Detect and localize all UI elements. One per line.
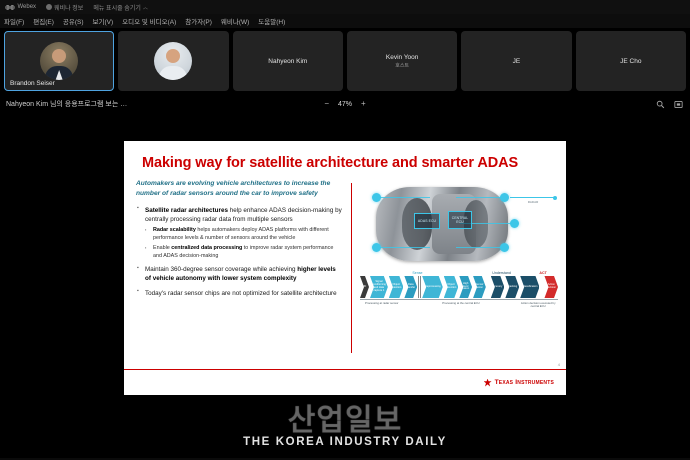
participant-name: JE Cho	[620, 58, 641, 65]
avatar	[154, 42, 192, 80]
legend-caption: RADAR	[510, 200, 556, 204]
zoom-out-button[interactable]: −	[324, 100, 329, 108]
radar-beam	[380, 197, 430, 198]
pipeline-headers: Sense Understand ACT	[360, 271, 558, 275]
watermark: 산업일보 THE KOREA INDUSTRY DAILY	[0, 407, 690, 449]
ti-star-icon	[484, 379, 492, 387]
car-radar-diagram: ADAS ECU CENTRAL ECU RADAR	[360, 181, 558, 269]
pipeline-stage: Object detection	[389, 276, 404, 298]
car-body	[376, 187, 508, 261]
radar-beam	[380, 247, 430, 248]
slide-lead-text: Automakers are evolving vehicle architec…	[136, 179, 352, 199]
share-bar-actions	[656, 100, 683, 109]
avatar-body	[159, 66, 187, 80]
hide-menubar-label: 메뉴 표시줄 숨기기	[93, 3, 141, 12]
slide-footer: Texas Instruments	[124, 369, 566, 395]
shared-content-stage: Making way for satellite architecture an…	[0, 113, 690, 458]
participant-label-group: JE Cho	[620, 58, 641, 65]
menu-edit[interactable]: 편집(E)	[33, 16, 54, 26]
webinar-info-label: 웨비나 정보	[54, 3, 83, 12]
pipeline-stage: Sensor fusion	[473, 276, 486, 298]
pipeline-footer-central: Processing at the central ECU	[404, 302, 519, 309]
participant-label-group: JE	[513, 58, 521, 65]
pipeline-stage-rf: RF	[360, 276, 369, 298]
sub-bullet-pre: Enable	[153, 245, 171, 251]
menu-help[interactable]: 도움말(H)	[258, 16, 285, 26]
pipeline-axis	[360, 299, 558, 300]
participant-tile-brandon-seiser[interactable]: Brandon Seiser	[4, 31, 114, 91]
sub-bullet-item: Enable centralized data processing to im…	[145, 245, 342, 260]
legend-bar	[510, 197, 556, 198]
pipeline-footer-radar: Processing at radar sensor	[360, 302, 404, 309]
pipeline-stage: Data transfer	[404, 276, 417, 298]
slide-bullet-list: Satellite radar architectures help enhan…	[136, 206, 352, 298]
radar-beam	[456, 247, 502, 248]
participant-strip: Brandon Seiser Nahyeon Kim Kevin Yoon 호스…	[0, 28, 690, 95]
pipeline-footer-act: Action decision executed by central ECU	[518, 302, 558, 309]
slide-graphic-column: ADAS ECU CENTRAL ECU RADAR Sense Underst…	[352, 179, 566, 369]
participant-tile-kevin-yoon[interactable]: Kevin Yoon 호스트	[347, 31, 457, 91]
share-status-label: Nahyeon Kim 님의 응용프로그램 보는 …	[6, 99, 127, 109]
bullet-item: Maintain 360-degree sensor coverage whil…	[136, 265, 342, 283]
menu-bar: 파일(F) 편집(E) 공유(S) 보기(V) 오디오 및 비디오(A) 참가자…	[0, 14, 690, 28]
webinar-info-button[interactable]: 웨비나 정보	[46, 3, 83, 12]
bullet-text: Today's radar sensor chips are not optim…	[145, 290, 337, 297]
zoom-controls: − 47% +	[324, 100, 365, 108]
participant-name: Brandon Seiser	[10, 80, 55, 87]
pipeline-stage: Classification	[520, 276, 539, 298]
hide-menubar-button[interactable]: 메뉴 표시줄 숨기기 ︿	[93, 3, 148, 12]
pipeline-footers: Processing at radar sensor Processing at…	[360, 302, 558, 309]
ti-logo-label: Texas Instruments	[495, 379, 554, 386]
sub-bullet-list: Radar scalability helps automakers deplo…	[145, 227, 342, 260]
participant-tile-nahyeon-kim[interactable]: Nahyeon Kim	[233, 31, 343, 91]
participant-tile-2[interactable]	[118, 31, 228, 91]
radar-beam	[456, 197, 502, 198]
pipeline-break	[418, 276, 421, 298]
bullet-item: Today's radar sensor chips are not optim…	[136, 289, 342, 298]
search-icon[interactable]	[656, 100, 665, 109]
participant-role: 호스트	[395, 62, 409, 69]
pipeline-stage: Object detection	[444, 276, 459, 298]
zoom-level-value: 47%	[338, 101, 352, 108]
share-status-bar: Nahyeon Kim 님의 응용프로그램 보는 … − 47% +	[0, 95, 690, 113]
participant-name: Nahyeon Kim	[268, 58, 307, 65]
participant-tile-je[interactable]: JE	[461, 31, 571, 91]
webex-brand: ◍◍ Webex	[5, 4, 36, 11]
column-divider	[351, 183, 352, 353]
menu-participants[interactable]: 참가자(P)	[185, 16, 212, 26]
bullet-item: Satellite radar architectures help enhan…	[136, 206, 342, 261]
pipeline-stage: Scenery	[491, 276, 505, 298]
pipeline-stage-act: Action decision	[544, 276, 558, 298]
bullet-bold-lead: Satellite radar architectures	[145, 207, 228, 214]
participant-label-group: Nahyeon Kim	[268, 58, 307, 65]
pipeline-stage: High level fusion	[459, 276, 472, 298]
menu-view[interactable]: 보기(V)	[93, 16, 114, 26]
central-ecu-box: CENTRAL ECU	[448, 211, 472, 229]
fullscreen-icon[interactable]	[674, 100, 683, 109]
participant-name: Kevin Yoon	[386, 54, 419, 61]
participant-label-group: Kevin Yoon 호스트	[386, 54, 419, 69]
info-icon	[46, 4, 52, 10]
zoom-in-button[interactable]: +	[361, 100, 366, 108]
pipeline-stage: Preprocessing	[422, 276, 443, 298]
sub-bullet-item: Radar scalability helps automakers deplo…	[145, 227, 342, 242]
pipeline-stage: Tracking	[505, 276, 519, 298]
sub-bullet-bold-mid: centralized data processing	[171, 245, 242, 251]
slide-page-number: 4	[558, 362, 560, 367]
slide-title: Making way for satellite architecture an…	[142, 155, 566, 171]
watermark-korean: 산업일보	[288, 407, 402, 436]
texas-instruments-logo: Texas Instruments	[484, 379, 554, 387]
webex-logo-icon: ◍◍	[5, 4, 14, 11]
slide-body: Automakers are evolving vehicle architec…	[124, 179, 566, 369]
bullet-pre: Maintain 360-degree sensor coverage whil…	[145, 266, 297, 273]
avatar-head	[166, 49, 180, 63]
pipeline-header-understand: Understand	[475, 271, 528, 275]
menu-audio-video[interactable]: 오디오 및 비디오(A)	[122, 16, 176, 26]
menu-share[interactable]: 공유(S)	[63, 16, 84, 26]
chevron-up-icon: ︿	[143, 4, 148, 11]
webex-brand-label: Webex	[17, 4, 36, 10]
sub-bullet-bold-lead: Radar scalability	[153, 227, 196, 233]
radar-legend: RADAR	[510, 197, 556, 204]
participant-tile-je-cho[interactable]: JE Cho	[576, 31, 686, 91]
webex-window: ◍◍ Webex 웨비나 정보 메뉴 표시줄 숨기기 ︿ 파일(F) 편집(E)…	[0, 0, 690, 460]
avatar	[40, 42, 78, 80]
menu-file[interactable]: 파일(F)	[4, 16, 24, 26]
participant-name: JE	[513, 58, 521, 65]
shared-slide: Making way for satellite architecture an…	[124, 141, 566, 395]
processing-pipeline-diagram: Sense Understand ACT RF Signal condition…	[360, 271, 558, 309]
slide-text-column: Automakers are evolving vehicle architec…	[124, 179, 352, 369]
avatar-head	[52, 49, 66, 63]
pipeline-header-act: ACT	[528, 271, 558, 275]
adas-ecu-box: ADAS ECU	[414, 213, 440, 229]
pipeline-chain: RF Signal conditioning and data capture …	[360, 276, 558, 298]
pipeline-stage: Signal conditioning and data capture 1	[370, 276, 388, 298]
pipeline-header-sense: Sense	[360, 271, 475, 275]
menu-webinar[interactable]: 웨비나(W)	[221, 16, 249, 26]
title-bar: ◍◍ Webex 웨비나 정보 메뉴 표시줄 숨기기 ︿	[0, 0, 690, 14]
watermark-english: THE KOREA INDUSTRY DAILY	[243, 436, 447, 448]
